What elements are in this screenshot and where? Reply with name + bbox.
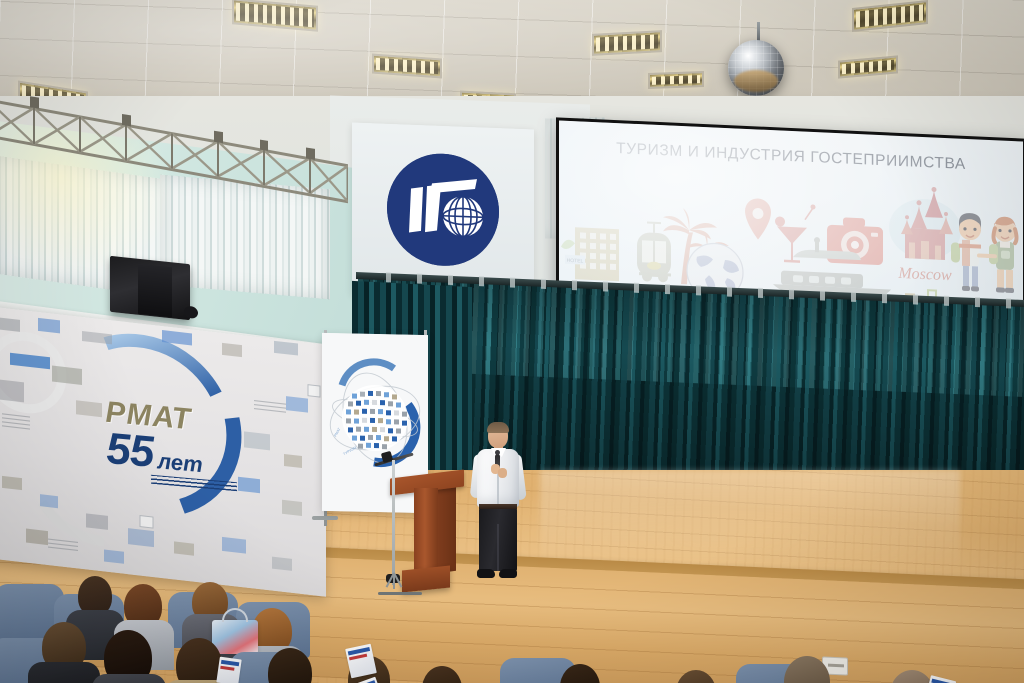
- conference-hall-photo: ТУРИЗМ И ИНДУСТРИЯ ГОСТЕПРИИМСТВА: [0, 0, 1024, 683]
- tram-icon: [637, 222, 671, 283]
- printed-leaflet: [926, 675, 957, 683]
- svg-text:HOTEL: HOTEL: [567, 258, 584, 265]
- tote-bag: [212, 620, 258, 654]
- audience-head: [422, 666, 462, 683]
- presenter-belt: [479, 504, 517, 509]
- rmat-institute-logo-icon: [387, 152, 499, 268]
- audience-body: [92, 674, 166, 683]
- audience-head: [890, 670, 934, 683]
- kremlin-icon: Moscow: [889, 185, 961, 285]
- rmat-anniversary-banner: РМАТ 55 лет: [0, 306, 326, 597]
- traveller-female: [985, 216, 1017, 293]
- audience-head: [676, 670, 716, 683]
- printed-leaflet: [216, 657, 241, 683]
- presenter-hair: [487, 422, 509, 433]
- moscow-caption: Moscow: [897, 265, 952, 284]
- audience-seating: [0, 560, 1024, 683]
- map-pin-icon: [745, 198, 771, 240]
- audience-head: [176, 638, 222, 683]
- printed-leaflet: [345, 644, 377, 679]
- stage-monitor-speaker: [110, 256, 190, 320]
- mirror-ball: [728, 40, 784, 96]
- banner-stand-foot: [312, 516, 338, 520]
- audience-body: [28, 662, 100, 683]
- audience-head: [784, 656, 830, 683]
- travellers-icon: [951, 212, 1017, 293]
- hotel-icon: HOTEL: [561, 227, 619, 282]
- presenter-hand: [498, 468, 507, 478]
- presenter: [466, 424, 528, 582]
